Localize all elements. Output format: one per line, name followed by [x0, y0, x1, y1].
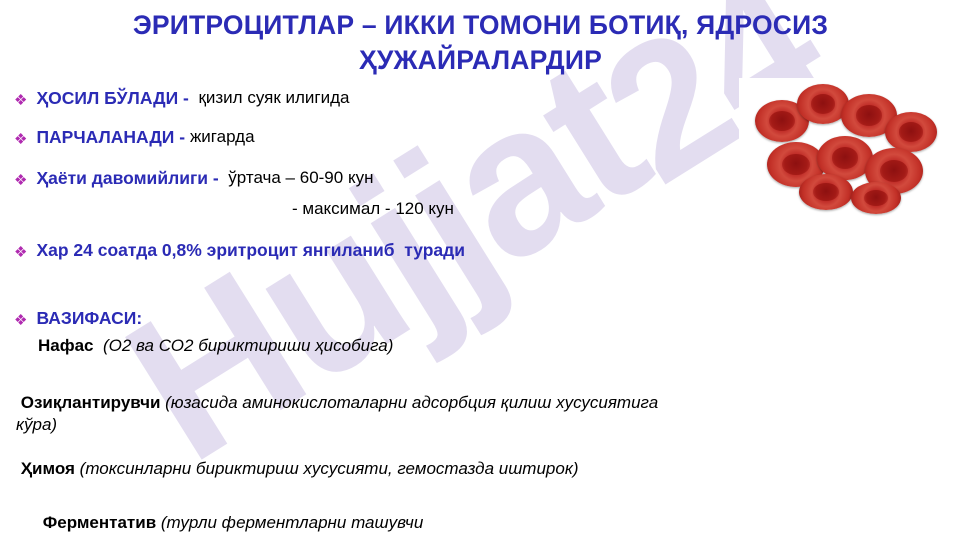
bullet-body-lifespan: ўртача – 60-90 кун: [224, 168, 374, 188]
diamond-bullet-icon: ❖: [14, 173, 27, 188]
bullet-item-destruction: ❖ ПАРЧАЛАНАДИ - жигарда: [14, 127, 255, 148]
function-nutrition: Озиқлантирувчи (юзасида аминокислоталарн…: [16, 392, 666, 436]
bullet-item-lifespan: ❖ Ҳаёти давомийлиги - ўртача – 60-90 кун: [14, 168, 373, 189]
bullet-body-destruction: жигарда: [190, 127, 255, 147]
bullet-item-formation: ❖ ҲОСИЛ БЎЛАДИ - қизил суяк илигида: [14, 88, 349, 109]
diamond-bullet-icon: ❖: [14, 245, 27, 260]
function-name-respiration: Нафас: [38, 336, 98, 355]
bullet-item-functions: ❖ ВАЗИФАСИ:: [14, 308, 142, 329]
function-name-nutrition: Озиқлантирувчи: [16, 393, 165, 412]
diamond-bullet-icon: ❖: [14, 132, 27, 147]
bullet-head-functions: ВАЗИФАСИ:: [36, 308, 142, 329]
function-enzymatic: Ферментатив (турли ферментларни ташувчи: [38, 512, 738, 534]
bullet-head-renewal: Хар 24 соатда 0,8% эритроцит янгиланиб т…: [36, 240, 465, 261]
bullet-body-formation: қизил суяк илигида: [194, 88, 350, 108]
bullet-item-renewal: ❖ Хар 24 соатда 0,8% эритроцит янгиланиб…: [14, 240, 465, 261]
function-desc-respiration: (О2 ва СО2 бириктириши ҳисобига): [98, 336, 393, 355]
red-blood-cells-image: [739, 78, 952, 218]
slide-content: ЭРИТРОЦИТЛАР – ИККИ ТОМОНИ БОТИҚ, ЯДРОСИ…: [0, 0, 961, 540]
function-name-enzymatic: Ферментатив: [38, 513, 161, 532]
slide-title: ЭРИТРОЦИТЛАР – ИККИ ТОМОНИ БОТИҚ, ЯДРОСИ…: [20, 8, 941, 78]
bullet-head-destruction: ПАРЧАЛАНАДИ -: [36, 127, 189, 148]
lifespan-max-line: - максимал - 120 кун: [292, 199, 454, 219]
diamond-bullet-icon: ❖: [14, 93, 27, 108]
function-desc-protection: (токсинларни бириктириш хусусияти, гемос…: [80, 459, 579, 478]
function-protection: Ҳимоя (токсинларни бириктириш хусусияти,…: [16, 458, 666, 480]
function-desc-enzymatic: (турли ферментларни ташувчи: [161, 513, 423, 532]
bullet-head-formation: ҲОСИЛ БЎЛАДИ -: [36, 88, 193, 109]
function-name-protection: Ҳимоя: [16, 459, 80, 478]
function-respiration: Нафас (О2 ва СО2 бириктириши ҳисобига): [38, 335, 393, 357]
diamond-bullet-icon: ❖: [14, 313, 27, 328]
bullet-head-lifespan: Ҳаёти давомийлиги -: [36, 168, 223, 189]
